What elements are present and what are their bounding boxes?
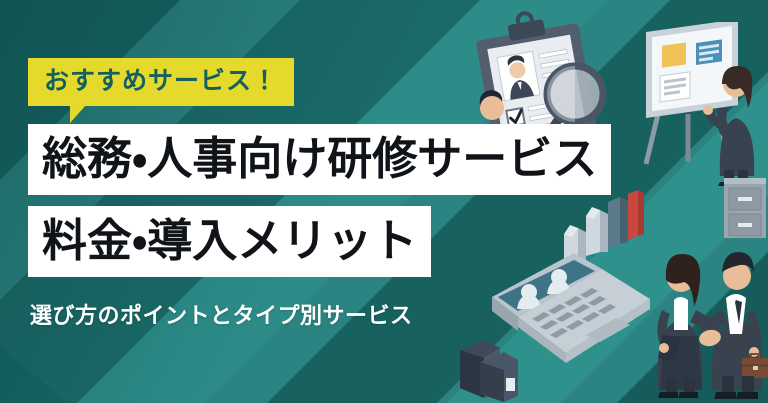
- headline-line-2: 料金・導入メリット: [28, 206, 431, 277]
- badge-tail-icon: [70, 105, 86, 123]
- recommended-badge: おすすめサービス！: [28, 58, 294, 106]
- headline-line-1: 総務・人事向け研修サービス: [28, 124, 611, 195]
- presenting-woman-icon: [700, 58, 768, 186]
- banner-root: おすすめサービス！ 総務・人事向け研修サービス 料金・導入メリット 選び方のポイ…: [0, 0, 768, 403]
- subtitle-text: 選び方のポイントとタイプ別サービス: [30, 298, 413, 330]
- text-content-layer: おすすめサービス！ 総務・人事向け研修サービス 料金・導入メリット 選び方のポイ…: [0, 0, 700, 403]
- recommended-badge-label: おすすめサービス！: [28, 58, 294, 106]
